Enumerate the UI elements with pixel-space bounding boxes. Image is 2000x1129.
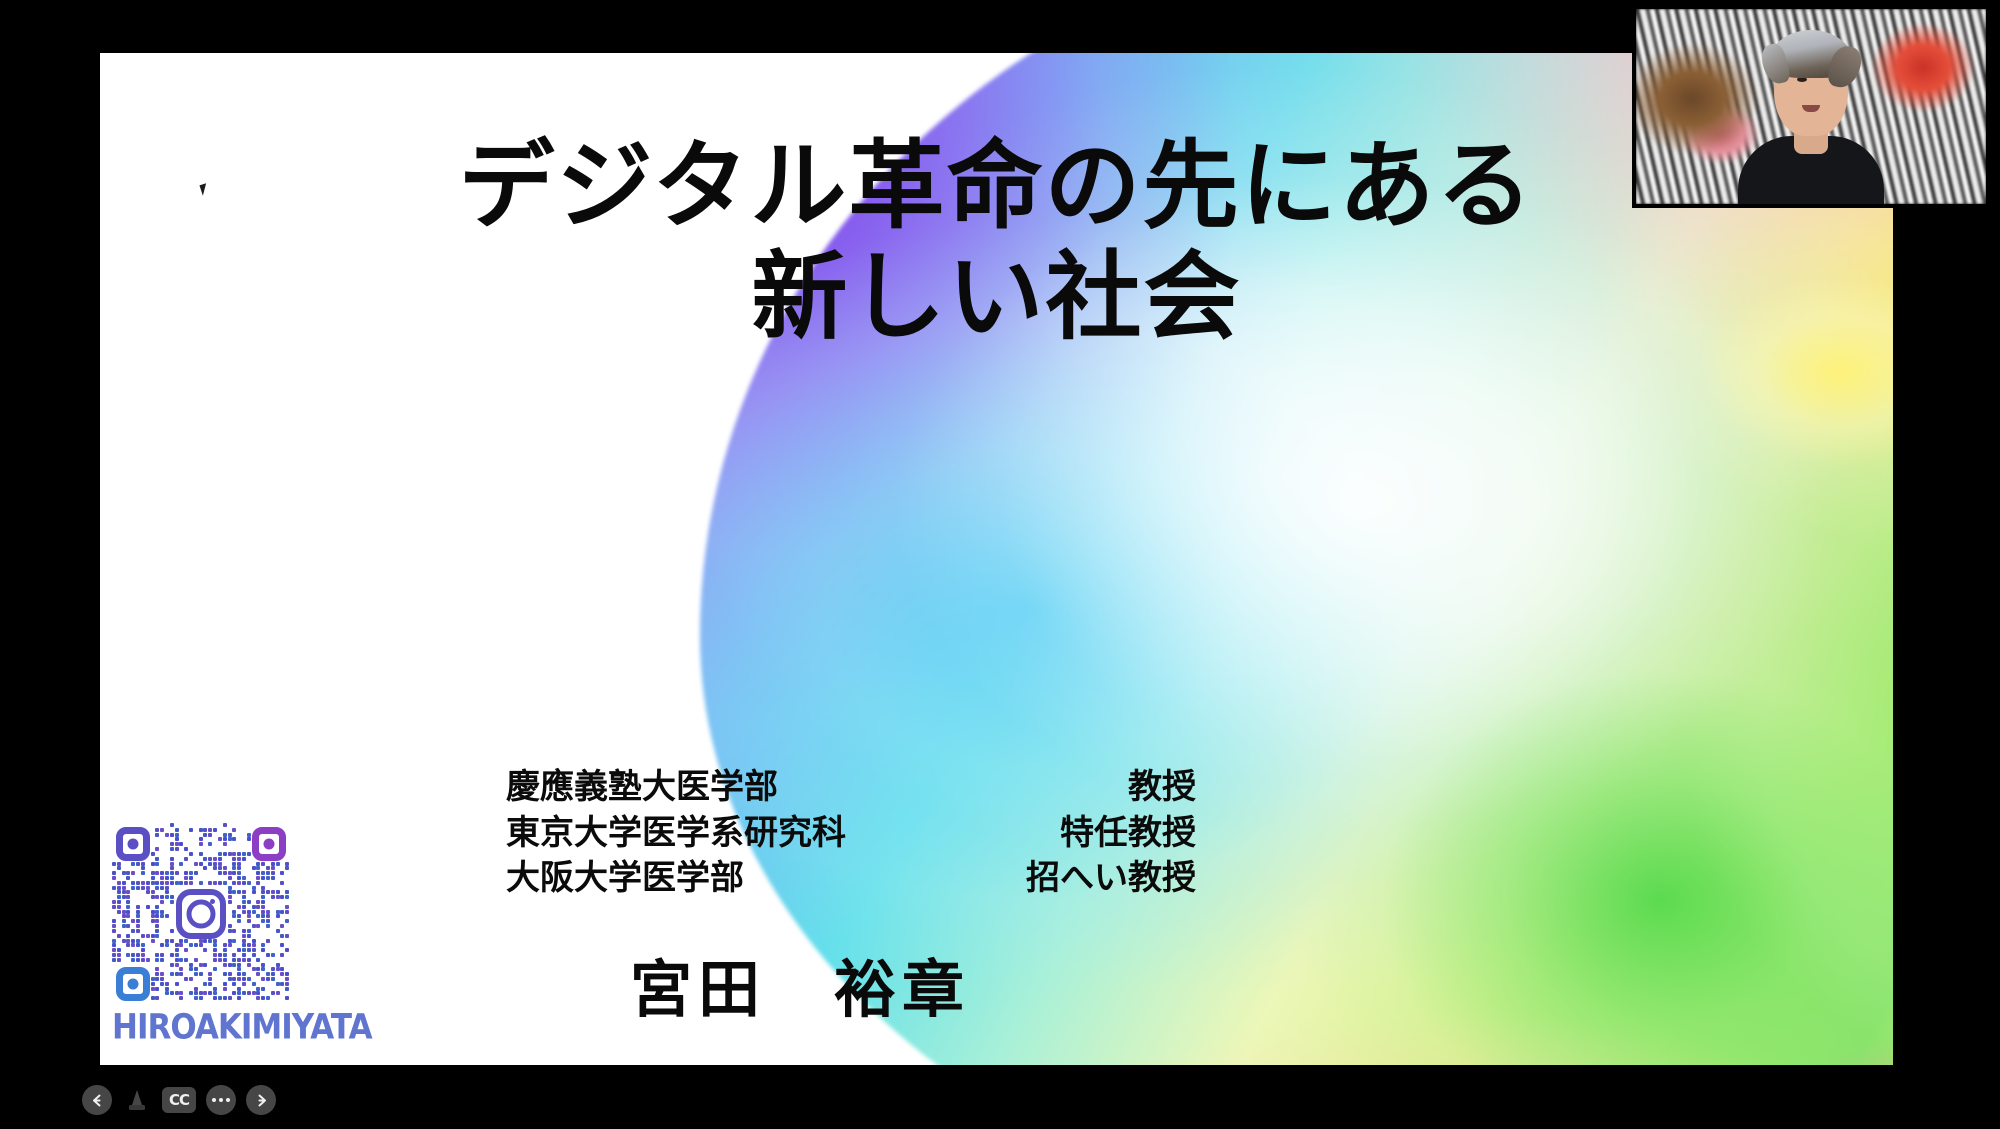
- pointer-tool-button[interactable]: [122, 1085, 152, 1115]
- instagram-icon: [176, 889, 226, 939]
- speaker-name: 宮田 裕章: [630, 939, 970, 1029]
- more-options-button[interactable]: [206, 1085, 236, 1115]
- cc-icon: CC: [169, 1091, 189, 1109]
- affiliation-organizations: 慶應義塾大医学部 東京大学医学系研究科 大阪大学医学部: [506, 765, 926, 902]
- ellipsis-icon: [212, 1098, 230, 1102]
- arrow-left-icon: [89, 1092, 106, 1109]
- instagram-qr-block[interactable]: HIROAKIMIYATA: [112, 823, 304, 1043]
- presenter-video-overlay[interactable]: [1632, 5, 1990, 208]
- instagram-handle: HIROAKIMIYATA: [112, 1007, 304, 1047]
- arrow-right-icon: [253, 1092, 270, 1109]
- qr-finder-icon: [116, 827, 150, 861]
- affiliation-org: 東京大学医学系研究科: [506, 811, 926, 857]
- slide-title: デジタル革命の先にある 新しい社会: [100, 131, 1893, 354]
- qr-finder-icon: [252, 827, 286, 861]
- affiliation-block: 慶應義塾大医学部 東京大学医学系研究科 大阪大学医学部 教授 特任教授 招へい教…: [506, 765, 1196, 902]
- captions-button[interactable]: CC: [162, 1087, 196, 1113]
- affiliation-org: 大阪大学医学部: [506, 856, 926, 902]
- presenter-figure: [1745, 42, 1877, 208]
- pen-pointer-icon: [125, 1087, 149, 1113]
- previous-slide-button[interactable]: [82, 1085, 112, 1115]
- presentation-viewer: デジタル革命の先にある 新しい社会 慶應義塾大医学部 東京大学医学系研究科 大阪…: [0, 0, 2000, 1129]
- affiliation-ranks: 教授 特任教授 招へい教授: [926, 765, 1196, 902]
- qr-finder-icon: [116, 967, 150, 1001]
- presentation-controls: CC: [82, 1085, 276, 1115]
- affiliation-rank: 特任教授: [926, 811, 1196, 857]
- affiliation-org: 慶應義塾大医学部: [506, 765, 926, 811]
- next-slide-button[interactable]: [246, 1085, 276, 1115]
- qr-code-image[interactable]: [112, 823, 290, 1005]
- affiliation-rank: 招へい教授: [926, 856, 1196, 902]
- slide-canvas[interactable]: デジタル革命の先にある 新しい社会 慶應義塾大医学部 東京大学医学系研究科 大阪…: [100, 53, 1893, 1065]
- affiliation-rank: 教授: [926, 765, 1196, 811]
